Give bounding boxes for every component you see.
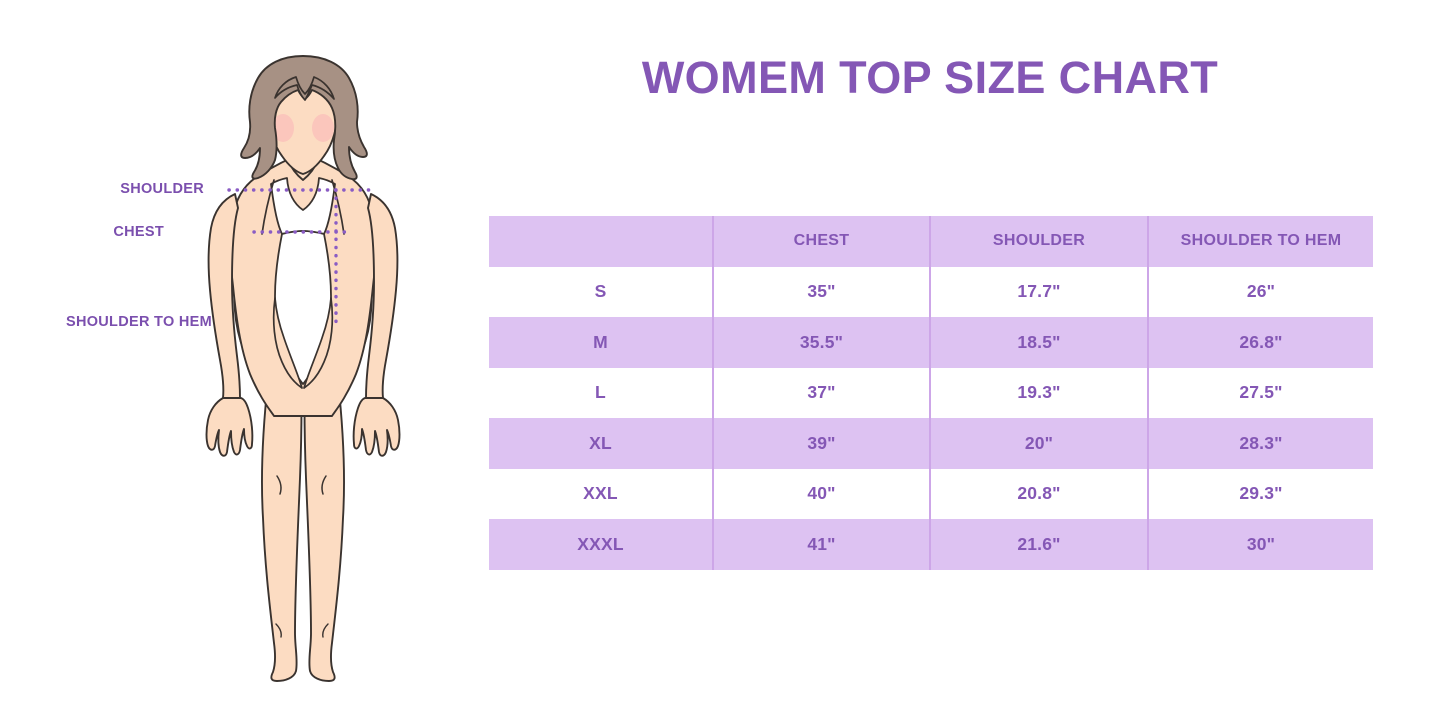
- blush-right: [312, 114, 334, 142]
- cell-shoulder-to-hem: 26": [1148, 267, 1373, 318]
- column-header-shoulder: SHOULDER: [930, 216, 1148, 267]
- cell-chest: 40": [713, 469, 930, 520]
- cell-shoulder-to-hem: 28.3": [1148, 418, 1373, 469]
- cell-shoulder: 20": [930, 418, 1148, 469]
- page-title: WOMEM TOP SIZE CHART: [470, 52, 1390, 104]
- table-header: CHEST SHOULDER SHOULDER TO HEM: [489, 216, 1373, 267]
- body-figure-svg: [178, 48, 428, 688]
- cell-size: XXXL: [489, 519, 713, 570]
- table-header-row: CHEST SHOULDER SHOULDER TO HEM: [489, 216, 1373, 267]
- cell-shoulder: 18.5": [930, 317, 1148, 368]
- column-header-size: [489, 216, 713, 267]
- cell-shoulder: 20.8": [930, 469, 1148, 520]
- cell-shoulder: 17.7": [930, 267, 1148, 318]
- cell-shoulder: 19.3": [930, 368, 1148, 419]
- cell-shoulder-to-hem: 29.3": [1148, 469, 1373, 520]
- size-chart-page: WOMEM TOP SIZE CHART SHOULDER CHEST SHOU…: [0, 0, 1445, 723]
- table-row: S 35" 17.7" 26": [489, 267, 1373, 318]
- table-row: L 37" 19.3" 27.5": [489, 368, 1373, 419]
- measurement-label-chest: CHEST: [113, 224, 164, 240]
- cell-shoulder: 21.6": [930, 519, 1148, 570]
- cell-size: XXL: [489, 469, 713, 520]
- table-body: S 35" 17.7" 26" M 35.5" 18.5" 26.8" L 37…: [489, 267, 1373, 570]
- female-body-illustration: [178, 48, 428, 688]
- cell-size: M: [489, 317, 713, 368]
- cell-chest: 41": [713, 519, 930, 570]
- cell-shoulder-to-hem: 30": [1148, 519, 1373, 570]
- hand-right-shape: [354, 398, 400, 456]
- table-row: M 35.5" 18.5" 26.8": [489, 317, 1373, 368]
- cell-size: S: [489, 267, 713, 318]
- table-row: XXXL 41" 21.6" 30": [489, 519, 1373, 570]
- table-row: XXL 40" 20.8" 29.3": [489, 469, 1373, 520]
- size-chart-table: CHEST SHOULDER SHOULDER TO HEM S 35" 17.…: [489, 216, 1373, 570]
- cell-size: L: [489, 368, 713, 419]
- hand-left-shape: [207, 398, 253, 456]
- cell-chest: 35": [713, 267, 930, 318]
- column-header-shoulder-to-hem: SHOULDER TO HEM: [1148, 216, 1373, 267]
- cell-shoulder-to-hem: 26.8": [1148, 317, 1373, 368]
- cell-chest: 35.5": [713, 317, 930, 368]
- cell-size: XL: [489, 418, 713, 469]
- cell-chest: 37": [713, 368, 930, 419]
- cell-shoulder-to-hem: 27.5": [1148, 368, 1373, 419]
- column-header-chest: CHEST: [713, 216, 930, 267]
- cell-chest: 39": [713, 418, 930, 469]
- table-row: XL 39" 20" 28.3": [489, 418, 1373, 469]
